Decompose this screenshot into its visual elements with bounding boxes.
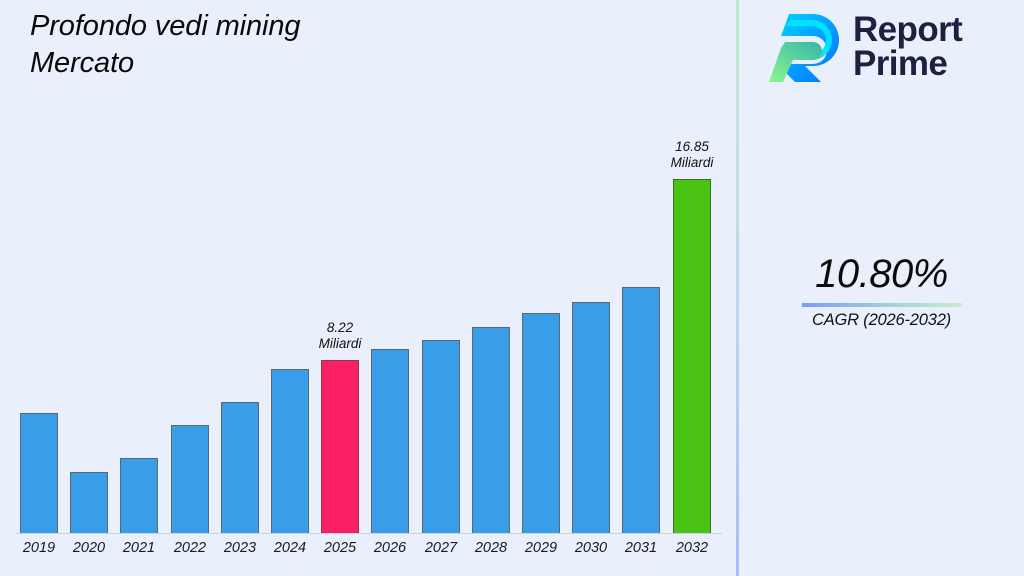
bar-2032 [673,179,711,533]
bar-2020 [70,472,108,533]
bar-2025 [321,360,359,533]
bar-2027 [422,340,460,533]
brand-logo: Report Prime [769,8,962,86]
brand-logo-text: Report Prime [853,13,962,82]
bar-chart-plot: 20192020202120222023202420258.22 Miliard… [0,0,737,576]
report-infographic: Profondo vedi mining Mercato 20192020202… [0,0,1024,576]
report-prime-r-logo-icon [769,8,841,86]
bar-2028 [472,327,510,533]
bar-2030 [572,302,610,533]
bar-value-label-2032: 16.85 Miliardi [637,139,747,171]
bar-2026 [371,349,409,533]
bar-2031 [622,287,660,533]
x-axis-line [16,533,722,534]
bar-2019 [20,413,58,533]
cagr-value: 10.80% [739,252,1024,297]
side-panel: Report Prime 10.80% CAGR (2026-2032) [739,0,1024,576]
cagr-divider-rule [802,303,962,307]
bar-value-label-2025: 8.22 Miliardi [285,320,395,352]
x-tick-2032: 2032 [662,540,722,556]
bar-2024 [271,369,309,533]
bar-2029 [522,313,560,533]
bar-2023 [221,402,259,533]
bar-2021 [120,458,158,533]
cagr-block: 10.80% CAGR (2026-2032) [739,252,1024,330]
chart-panel: Profondo vedi mining Mercato 20192020202… [0,0,737,576]
cagr-caption: CAGR (2026-2032) [739,311,1024,330]
bar-2022 [171,425,209,533]
